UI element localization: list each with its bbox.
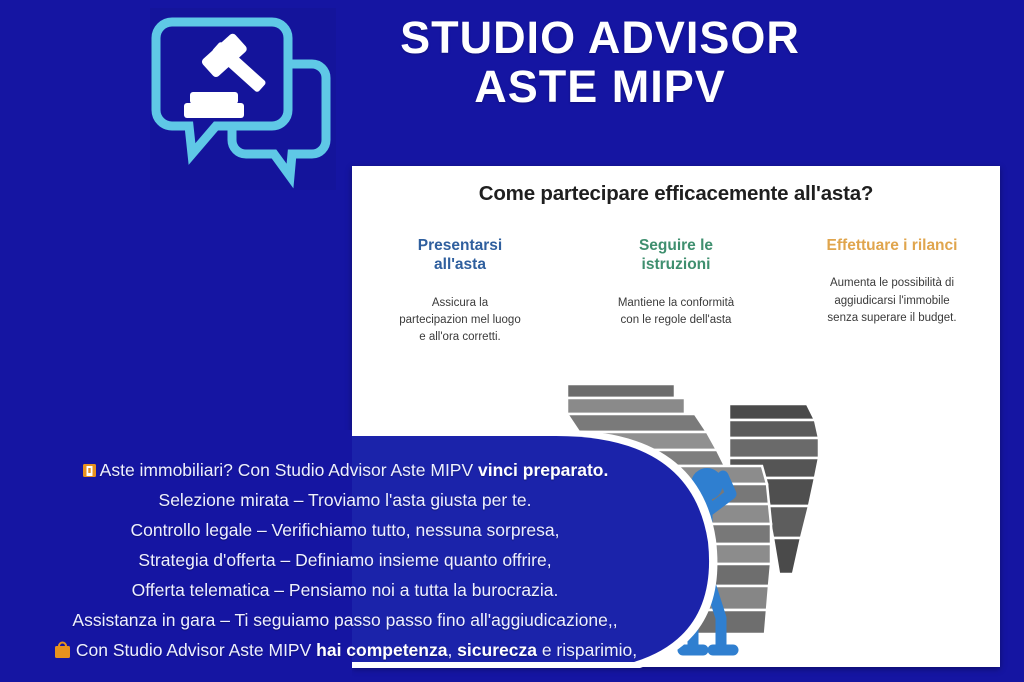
page-title: STUDIO ADVISOR ASTE MIPV <box>340 14 860 111</box>
card-title: Come partecipare efficacemente all'asta? <box>352 182 1000 206</box>
bottom-line-6: Assistanza in gara – Ti seguiamo passo p… <box>0 605 690 635</box>
step-body-line-1: Mantiene la conformità <box>618 297 734 309</box>
step-body-line-1: Assicura la <box>432 297 488 309</box>
brand-line-1: STUDIO ADVISOR <box>400 12 800 63</box>
step-body-line-1: Aumenta le possibilità di <box>830 277 954 289</box>
bottom-line-7-text-d: sicurecza <box>457 640 537 660</box>
step-column-rilanci: Effettuare i rilanci Aumenta le possibil… <box>784 236 1000 347</box>
bottom-line-7-text-c: , <box>447 640 457 660</box>
gavel-speech-bubble-logo-icon <box>150 8 336 190</box>
step-heading-line-1: Effettuare i rilanci <box>827 237 958 254</box>
bottom-line-7: Con Studio Advisor Aste MIPV hai compete… <box>0 635 690 665</box>
bottom-line-3: Controllo legale – Verifichiamo tutto, n… <box>0 515 690 545</box>
bottom-line-2: Selezione mirata – Troviamo l'asta giust… <box>0 485 690 515</box>
bottom-line-7-text-e: e risparimio, <box>537 640 637 660</box>
step-body-line-2: aggiudicarsi l'immobile <box>834 295 949 307</box>
step-body: Mantiene la conformità con le regole del… <box>578 295 774 330</box>
bottom-line-4: Strategia d'offerta – Definiamo insieme … <box>0 545 690 575</box>
step-body: Assicura la partecipazion mel luogo e al… <box>362 295 558 347</box>
bottom-line-1: Aste immobiliari? Con Studio Advisor Ast… <box>0 455 690 485</box>
briefcase-icon <box>53 639 72 658</box>
step-body-line-2: partecipazion mel luogo <box>399 314 520 326</box>
poster-canvas: STUDIO ADVISOR ASTE MIPV Come partecipar… <box>0 0 1024 682</box>
step-body-line-3: senza superare il budget. <box>827 312 956 324</box>
bottom-line-1-text-b: vinci preparato. <box>478 460 608 480</box>
step-body-line-3: e all'ora corretti. <box>419 331 500 343</box>
bottom-line-7-text-b: hai competenza <box>316 640 447 660</box>
step-column-presentarsi: Presentarsi all'asta Assicura la parteci… <box>352 236 568 347</box>
step-body: Aumenta le possibilità di aggiudicarsi l… <box>794 275 990 327</box>
brand-logo <box>150 8 336 190</box>
step-heading: Effettuare i rilanci <box>794 236 990 255</box>
step-heading: Presentarsi all'asta <box>362 236 558 275</box>
bottom-line-1-text-a: Aste immobiliari? Con Studio Advisor Ast… <box>100 460 478 480</box>
bottom-line-5: Offerta telematica – Pensiamo noi a tutt… <box>0 575 690 605</box>
step-heading: Seguire le istruzioni <box>578 236 774 275</box>
step-heading-line-1: Seguire le <box>639 237 713 254</box>
steps-columns: Presentarsi all'asta Assicura la parteci… <box>352 236 1000 347</box>
brand-line-2: ASTE MIPV <box>340 63 860 112</box>
step-heading-line-2: istruzioni <box>642 256 711 273</box>
house-icon <box>82 457 97 472</box>
bottom-copy-block: Aste immobiliari? Con Studio Advisor Ast… <box>0 455 690 665</box>
step-body-line-2: con le regole dell'asta <box>621 314 732 326</box>
step-heading-line-2: all'asta <box>434 256 486 273</box>
step-heading-line-1: Presentarsi <box>418 237 502 254</box>
step-column-seguire: Seguire le istruzioni Mantiene la confor… <box>568 236 784 347</box>
bottom-line-7-text-a: Con Studio Advisor Aste MIPV <box>76 640 316 660</box>
